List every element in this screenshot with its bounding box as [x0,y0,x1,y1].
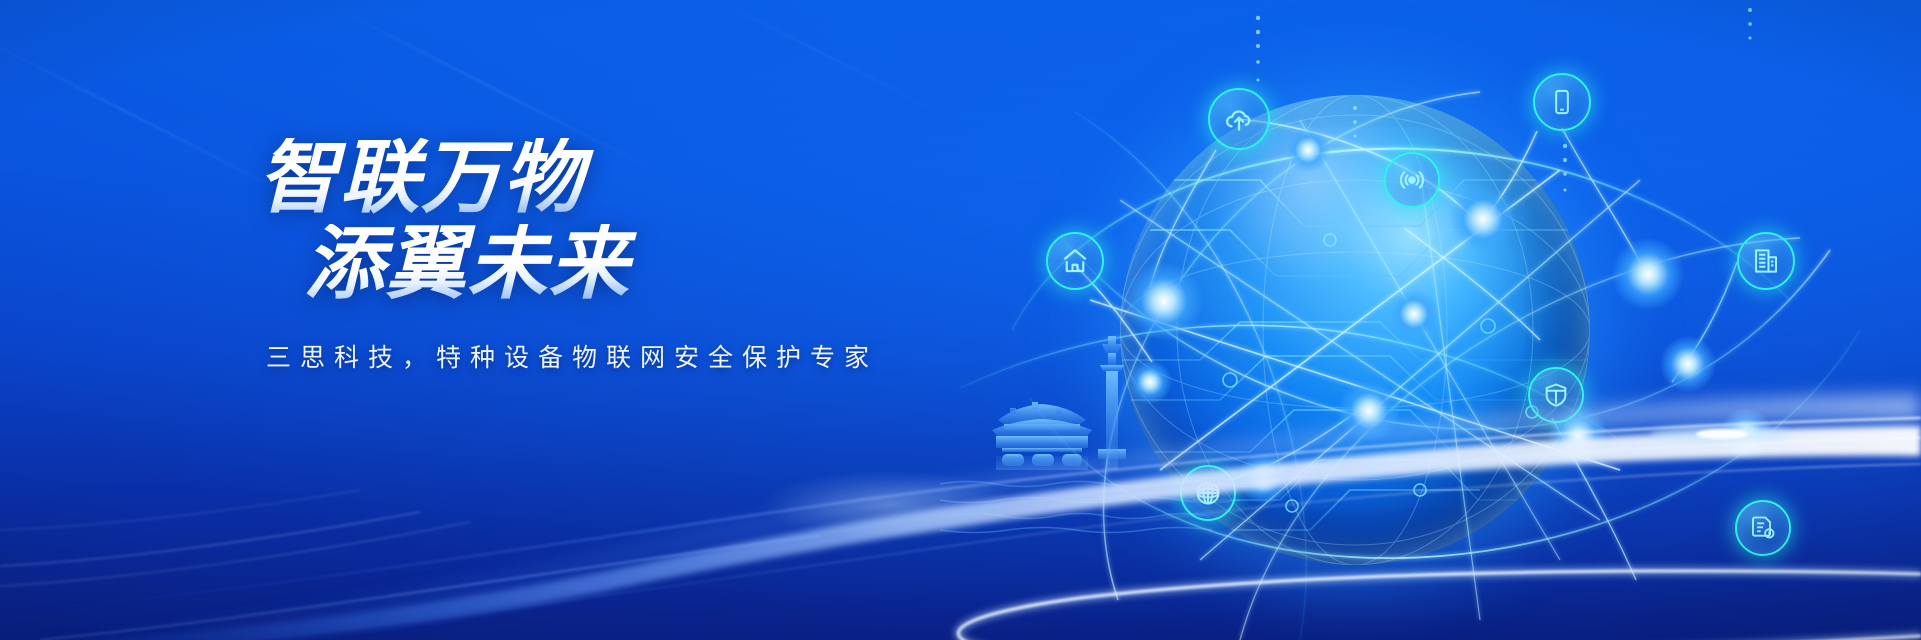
glow-node-dot [1450,186,1516,252]
headline-line-2: 添翼未来 [304,224,1018,304]
trail-hairpin [958,571,1921,640]
cloud-upload-icon[interactable] [1208,88,1270,150]
trail-strand [0,438,1921,636]
horizon-glow [760,470,1020,540]
glow-node-dot [1125,262,1203,340]
glow-node-dot [1390,290,1438,338]
hero-banner: 智联万物 添翼未来 三思科技，特种设备物联网安全保护专家 [0,0,1921,640]
building-icon[interactable] [1737,232,1795,290]
wifi-signal-icon[interactable] [1384,152,1440,208]
hero-subtitle: 三思科技，特种设备物联网安全保护专家 [266,338,1018,374]
decor-dotted-beads [1256,8,1752,192]
glow-node-dot [1612,238,1684,310]
glow-node-dot [1286,128,1330,172]
hero-copy: 智联万物 添翼未来 三思科技，特种设备物联网安全保护专家 [258,138,1018,374]
mobile-phone-icon[interactable] [1533,73,1591,131]
home-icon[interactable] [1046,232,1104,290]
headline-line-1: 智联万物 [258,138,1018,218]
